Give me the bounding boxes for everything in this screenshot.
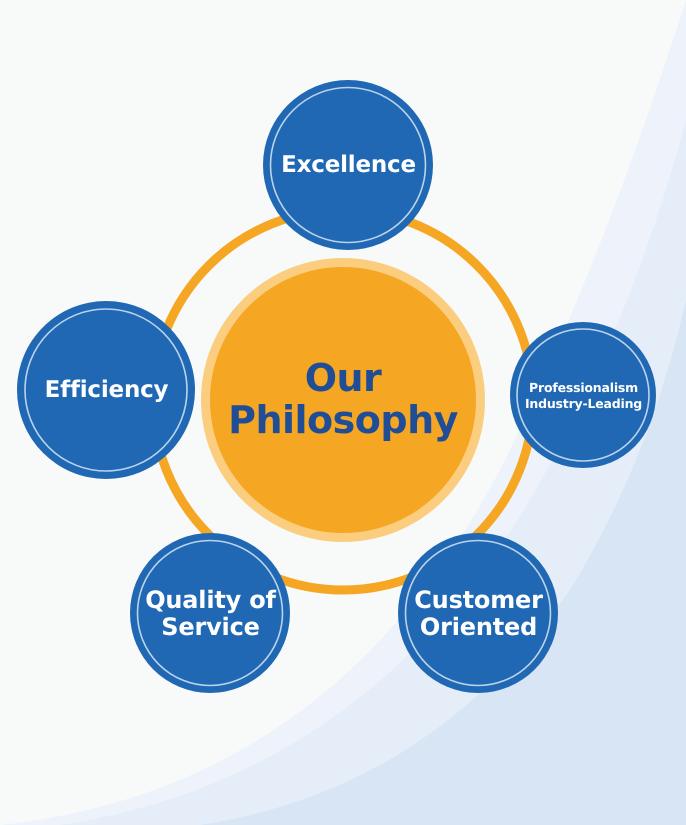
node-quality-of-service[interactable]: Quality of Service [130, 533, 291, 694]
hub-label: Our Philosophy [228, 358, 458, 442]
node-customer-oriented-label: Customer Oriented [414, 587, 542, 641]
node-quality-of-service-label: Quality of Service [145, 587, 276, 641]
node-excellence-label: Excellence [281, 153, 416, 179]
node-efficiency-label: Efficiency [45, 378, 169, 404]
node-professionalism-label: Professionalism Industry-Leading [525, 380, 642, 411]
node-customer-oriented[interactable]: Customer Oriented [398, 533, 559, 694]
node-efficiency[interactable]: Efficiency [17, 301, 196, 480]
node-professionalism[interactable]: Professionalism Industry-Leading [510, 322, 657, 469]
node-excellence[interactable]: Excellence [263, 80, 434, 251]
our-philosophy-hub[interactable]: Our Philosophy [210, 267, 476, 533]
philosophy-diagram-canvas: Our Philosophy Excellence Professionalis… [0, 0, 686, 825]
